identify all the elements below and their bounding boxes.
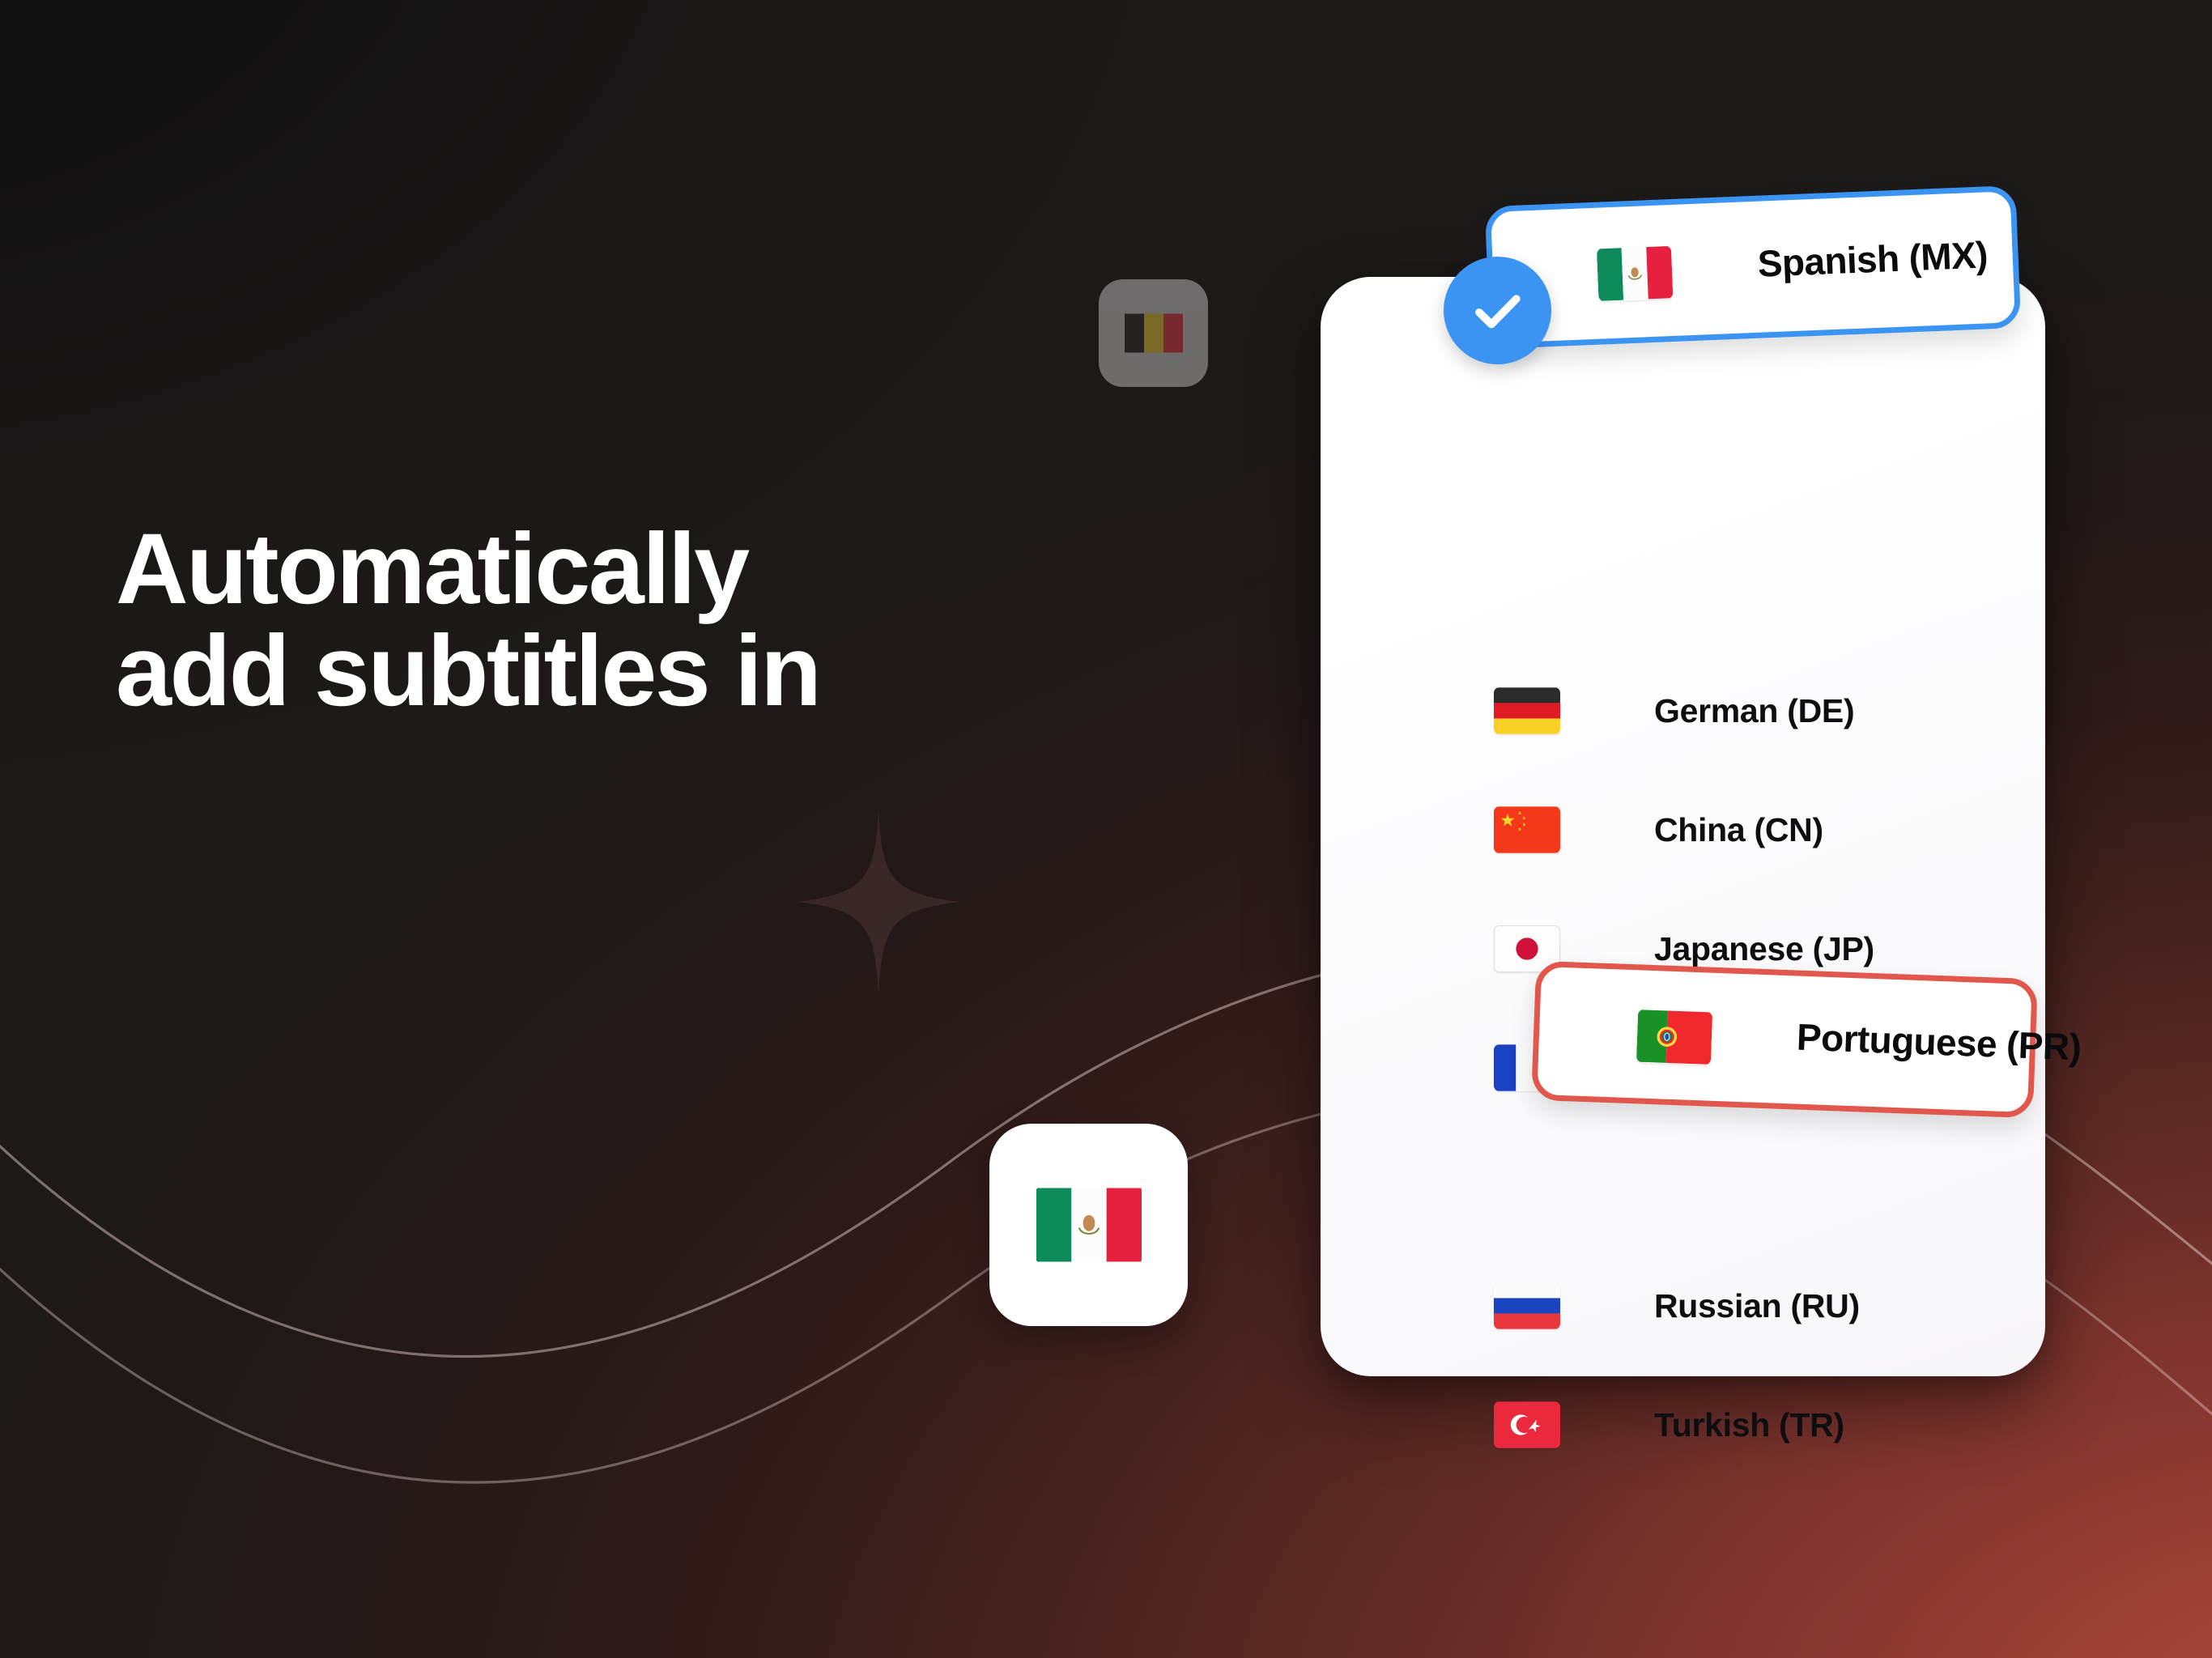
language-row-china[interactable]: China (CN) — [1321, 785, 2045, 874]
mx-flag-icon — [1036, 1188, 1142, 1262]
tr-flag-icon — [1494, 1401, 1560, 1448]
check-icon — [1468, 281, 1528, 341]
page-title: Automatically add subtitles in — [116, 518, 1185, 723]
language-label: Japanese (JP) — [1654, 930, 1874, 968]
language-label: German (DE) — [1654, 692, 1854, 730]
mexico-flag-chip — [989, 1124, 1188, 1326]
language-row-spanish[interactable]: Spanish (MX) — [1485, 185, 2022, 349]
mx-flag-icon — [1597, 245, 1674, 302]
language-label: Russian (RU) — [1654, 1287, 1860, 1325]
language-list: Spanish (MX) German (DE) — [1321, 277, 2045, 1376]
ru-flag-icon — [1494, 1282, 1560, 1329]
language-label: Portuguese (PR) — [1796, 1015, 2082, 1069]
language-label: Turkish (TR) — [1654, 1406, 1844, 1444]
language-label: Spanish (MX) — [1757, 232, 1989, 285]
language-label: China (CN) — [1654, 811, 1823, 849]
language-row-portuguese[interactable]: Portuguese (PR) — [1531, 961, 2038, 1119]
belgium-flag-chip — [1099, 279, 1208, 387]
language-row-turkish[interactable]: Turkish (TR) — [1321, 1380, 2045, 1469]
language-row-russian[interactable]: Russian (RU) — [1321, 1261, 2045, 1350]
selected-check-badge[interactable] — [1444, 257, 1551, 364]
language-list-card: Spanish (MX) German (DE) — [1321, 277, 2045, 1376]
be-flag-icon — [1125, 312, 1183, 355]
promo-banner: Automatically add subtitles in — [0, 0, 2212, 1658]
de-flag-icon — [1494, 687, 1560, 734]
language-row-german[interactable]: German (DE) — [1321, 666, 2045, 755]
cn-flag-icon — [1494, 806, 1560, 853]
pt-flag-icon — [1636, 1009, 1712, 1065]
